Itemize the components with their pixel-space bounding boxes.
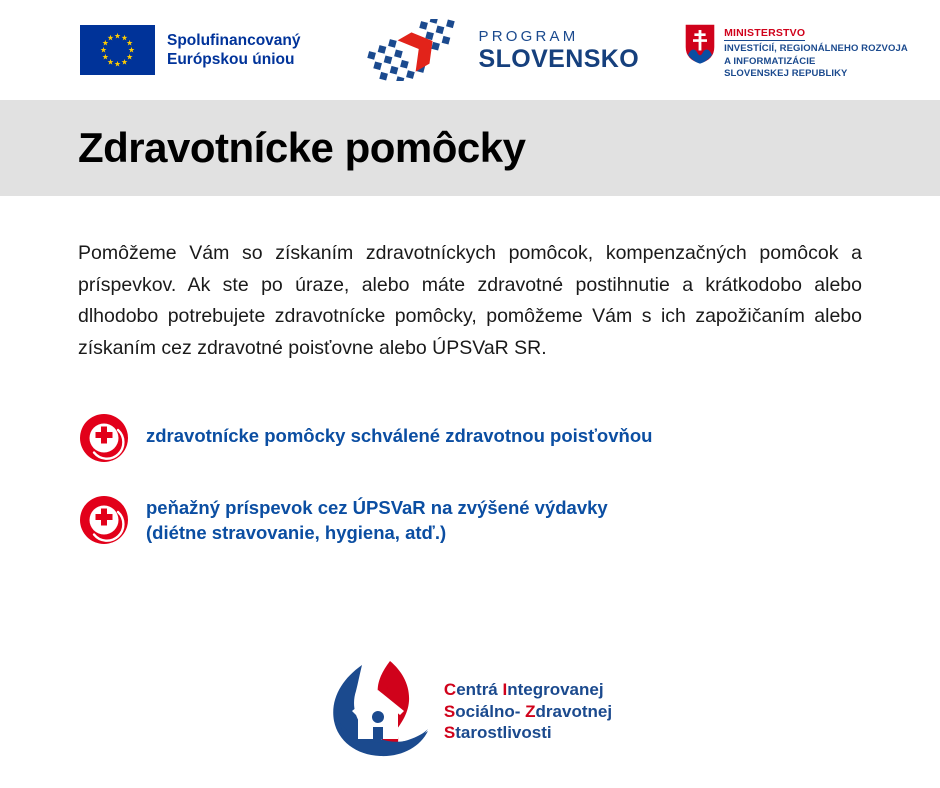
cszs-line-3: Starostlivosti <box>444 722 612 744</box>
list-item: peňažný príspevok cez ÚPSVaR na zvýšené … <box>78 494 940 546</box>
list-item-line-1: zdravotnícke pomôcky schválené zdravotno… <box>146 425 652 446</box>
cszs-line-2: Sociálno- Zdravotnej <box>444 701 612 723</box>
cszs-cap-z: Z <box>525 702 535 721</box>
list-item-label: zdravotnícke pomôcky schválené zdravotno… <box>146 412 652 448</box>
list-item-line-1: peňažný príspevok cez ÚPSVaR na zvýšené … <box>146 497 608 518</box>
program-slovensko-logo: PROGRAM SLOVENSKO <box>363 19 640 81</box>
ministry-subtitle: INVESTÍCIÍ, REGIONÁLNEHO ROZVOJA A INFOR… <box>724 43 908 81</box>
benefits-list: zdravotnícke pomôcky schválené zdravotno… <box>78 412 940 546</box>
cszs-cap-s1: S <box>444 702 455 721</box>
eu-line-1: Spolufinancovaný <box>167 31 301 50</box>
red-cross-circle-icon <box>78 412 130 464</box>
ministry-line-2: A INFORMATIZÁCIE <box>724 56 908 69</box>
ministry-line-3: SLOVENSKEJ REPUBLIKY <box>724 68 908 81</box>
cszs-rest-2: ociálno- <box>455 702 525 721</box>
ministry-text: MINISTERSTVO INVESTÍCIÍ, REGIONÁLNEHO RO… <box>724 23 908 81</box>
list-item-label: peňažný príspevok cez ÚPSVaR na zvýšené … <box>146 494 608 545</box>
list-item-line-2: (diétne stravovanie, hygiena, atď.) <box>146 521 608 545</box>
red-cross-circle-icon <box>78 494 130 546</box>
cszs-cap-s2: S <box>444 723 455 742</box>
cszs-line-1: Centrá Integrovanej <box>444 679 612 701</box>
header-logo-bar: Spolufinancovaný Európskou úniou <box>0 0 940 100</box>
eu-flag-icon <box>80 25 155 75</box>
cszs-flame-house-logo-icon <box>328 659 438 764</box>
eu-cofunding-logo: Spolufinancovaný Európskou úniou <box>80 25 301 75</box>
ministry-title: MINISTERSTVO <box>724 27 805 41</box>
intro-paragraph: Pomôžeme Vám so získaním zdravotníckych … <box>78 238 862 364</box>
eu-cofunding-text: Spolufinancovaný Európskou úniou <box>167 31 301 70</box>
cszs-rest-3: tarostlivosti <box>455 723 551 742</box>
ps-slovensko-label: SLOVENSKO <box>479 47 640 72</box>
ministry-logo: MINISTERSTVO INVESTÍCIÍ, REGIONÁLNEHO RO… <box>684 19 908 81</box>
title-band: Zdravotnícke pomôcky <box>0 100 940 196</box>
cszs-rest-1b: ntegrovanej <box>507 680 603 699</box>
cszs-footer-logo: Centrá Integrovanej Sociálno- Zdravotnej… <box>0 659 940 764</box>
ministry-line-1: INVESTÍCIÍ, REGIONÁLNEHO ROZVOJA <box>724 43 908 56</box>
program-slovensko-wordmark: PROGRAM SLOVENSKO <box>479 29 640 72</box>
slovak-coat-of-arms-icon <box>684 23 716 65</box>
page-title: Zdravotnícke pomôcky <box>78 124 525 172</box>
cszs-cap-c: C <box>444 680 456 699</box>
cszs-rest-2b: dravotnej <box>536 702 613 721</box>
list-item: zdravotnícke pomôcky schválené zdravotno… <box>78 412 940 464</box>
eu-line-2: Európskou úniou <box>167 50 301 69</box>
ps-program-label: PROGRAM <box>479 29 640 44</box>
cszs-wordmark: Centrá Integrovanej Sociálno- Zdravotnej… <box>444 679 612 744</box>
cszs-rest-1: entrá <box>456 680 502 699</box>
program-slovensko-mark-icon <box>363 19 471 81</box>
